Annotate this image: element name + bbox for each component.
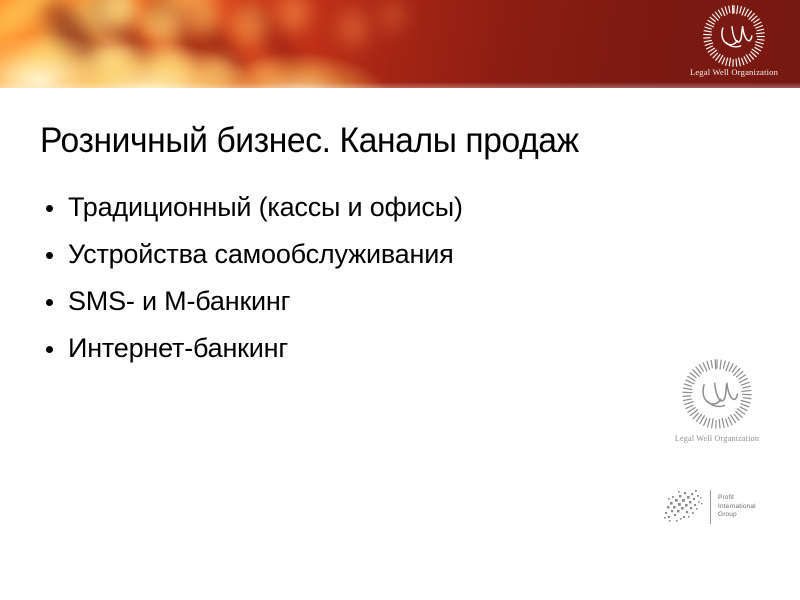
list-item: Устройства самообслуживания [42, 231, 642, 278]
header-banner: Legal Well Organization [0, 0, 800, 88]
logo-line-2: International [718, 503, 756, 512]
bullet-dot-icon [46, 346, 53, 353]
list-item-label: Устройства самообслуживания [68, 239, 454, 269]
bullet-dot-icon [46, 205, 53, 212]
presentation-slide: Legal Well Organization Розничный бизнес… [0, 0, 800, 600]
dot-cloud-mark [662, 486, 706, 528]
header-logo-caption: Legal Well Organization [682, 67, 786, 77]
legal-well-organization-emblem [701, 3, 767, 69]
list-item-label: SMS- и М-банкинг [68, 286, 290, 316]
logo-divider [710, 490, 711, 524]
list-item: Интернет-банкинг [42, 325, 642, 372]
bullet-dot-icon [46, 299, 53, 306]
logo-line-1: Profit [718, 494, 756, 503]
footer-logo-legal-well-organization: Legal Well Organization [655, 356, 779, 443]
list-item-label: Традиционный (кассы и офисы) [68, 192, 463, 222]
legal-well-organization-emblem [679, 356, 755, 432]
footer-logo-secondary-text: Profit International Group [718, 494, 756, 520]
banner-glow [0, 0, 800, 88]
list-item-label: Интернет-банкинг [68, 333, 288, 363]
list-item: SMS- и М-банкинг [42, 278, 642, 325]
bullet-dot-icon [46, 252, 53, 259]
list-item: Традиционный (кассы и офисы) [42, 184, 642, 231]
logo-line-3: Group [718, 511, 756, 520]
header-logo: Legal Well Organization [682, 3, 786, 87]
slide-title: Розничный бизнес. Каналы продаж [40, 119, 735, 163]
footer-logo-caption: Legal Well Organization [655, 434, 779, 443]
footer-logo-profit-international-group: Profit International Group [662, 484, 774, 530]
bullet-list: Традиционный (кассы и офисы) Устройства … [42, 184, 642, 372]
